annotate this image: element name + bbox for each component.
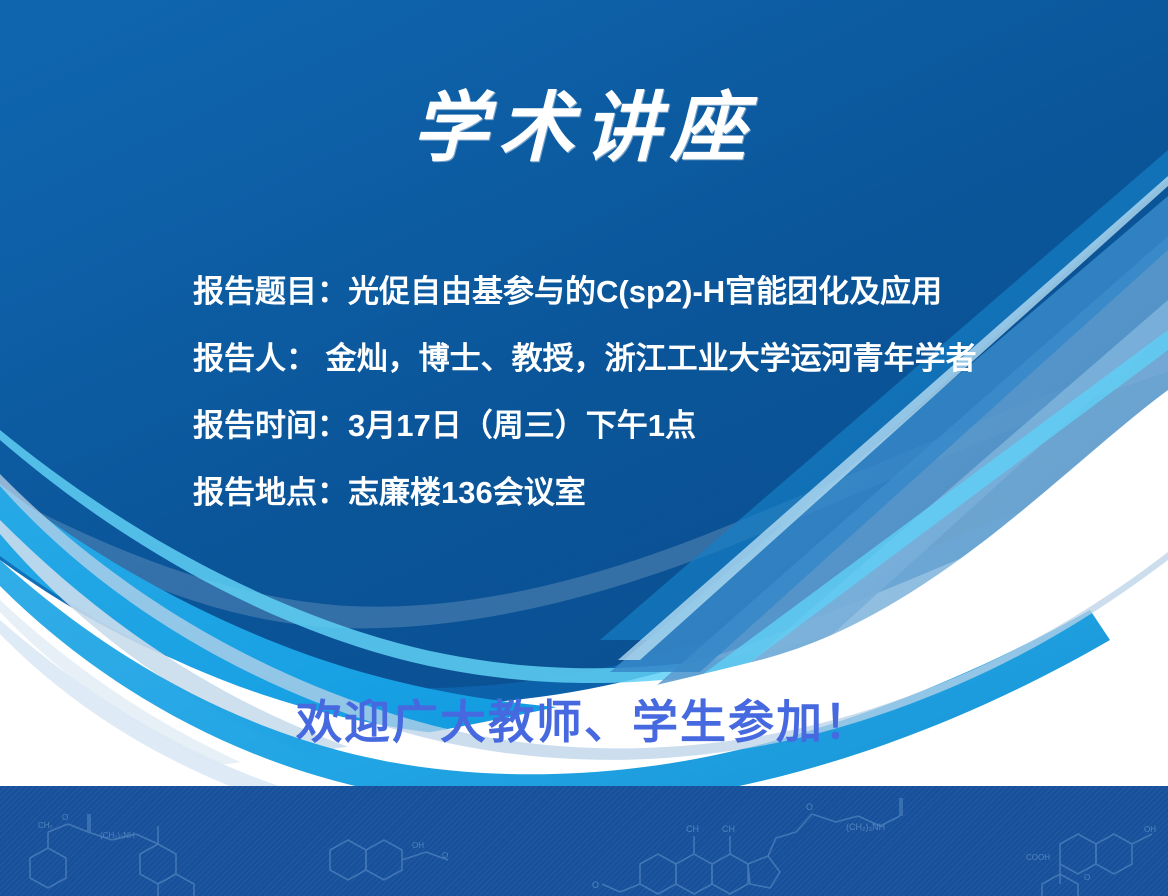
svg-text:OH: OH xyxy=(1144,825,1156,834)
chemical-structure-icon: CH CH O (CH₂)₃NH O xyxy=(0,786,1168,896)
svg-text:(CH₂)₃NH: (CH₂)₃NH xyxy=(846,822,885,832)
svg-text:OH: OH xyxy=(412,841,424,850)
detail-time: 报告时间：3月17日（周三）下午1点 xyxy=(193,410,1073,441)
svg-text:O: O xyxy=(442,851,448,860)
detail-topic: 报告题目：光促自由基参与的C(sp2)-H官能团化及应用 xyxy=(193,276,1073,307)
svg-text:COOH: COOH xyxy=(1026,853,1050,862)
detail-speaker: 报告人： 金灿，博士、教授，浙江工业大学运河青年学者 xyxy=(193,343,1073,374)
page-title: 学术讲座 xyxy=(0,86,1168,170)
svg-text:O: O xyxy=(1084,873,1090,882)
detail-venue: 报告地点：志廉楼136会议室 xyxy=(193,477,1073,508)
lecture-details: 报告题目：光促自由基参与的C(sp2)-H官能团化及应用 报告人： 金灿，博士、… xyxy=(193,276,1073,508)
lecture-poster: 学术讲座 报告题目：光促自由基参与的C(sp2)-H官能团化及应用 报告人： 金… xyxy=(0,0,1168,896)
svg-text:O: O xyxy=(62,813,68,822)
svg-text:CH: CH xyxy=(686,824,699,834)
svg-text:CH: CH xyxy=(722,824,735,834)
svg-text:O: O xyxy=(806,802,813,812)
footer-band: CH CH O (CH₂)₃NH O xyxy=(0,786,1168,896)
svg-text:(CH₂)₃NH: (CH₂)₃NH xyxy=(100,831,135,840)
welcome-message: 欢迎广大教师、学生参加！ xyxy=(0,697,1168,748)
svg-text:O: O xyxy=(592,880,599,890)
svg-text:CH₃: CH₃ xyxy=(38,821,53,830)
